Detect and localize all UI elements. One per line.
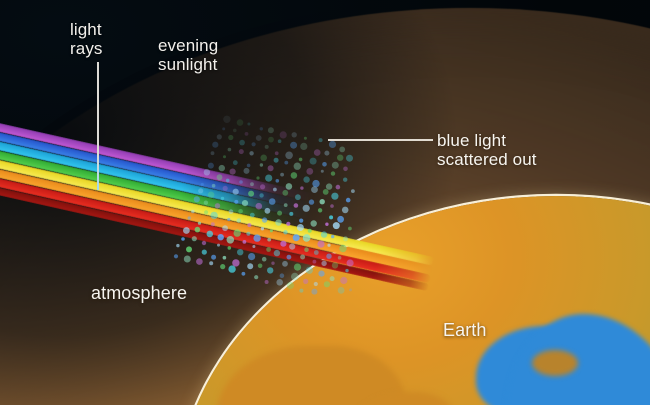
label-earth: Earth bbox=[443, 320, 487, 340]
label-blue-light-scattered: blue light scattered out bbox=[437, 131, 537, 169]
label-atmosphere: atmosphere bbox=[91, 283, 187, 303]
leader-line-blue-light bbox=[328, 139, 433, 141]
label-light-rays: light rays bbox=[70, 20, 103, 58]
diagram-canvas: light rays evening sunlight blue light s… bbox=[0, 0, 650, 405]
earth-land-patch bbox=[216, 346, 406, 405]
label-evening-sunlight: evening sunlight bbox=[158, 36, 218, 74]
earth-land-patch bbox=[532, 350, 578, 376]
leader-line-light-rays bbox=[97, 62, 99, 190]
